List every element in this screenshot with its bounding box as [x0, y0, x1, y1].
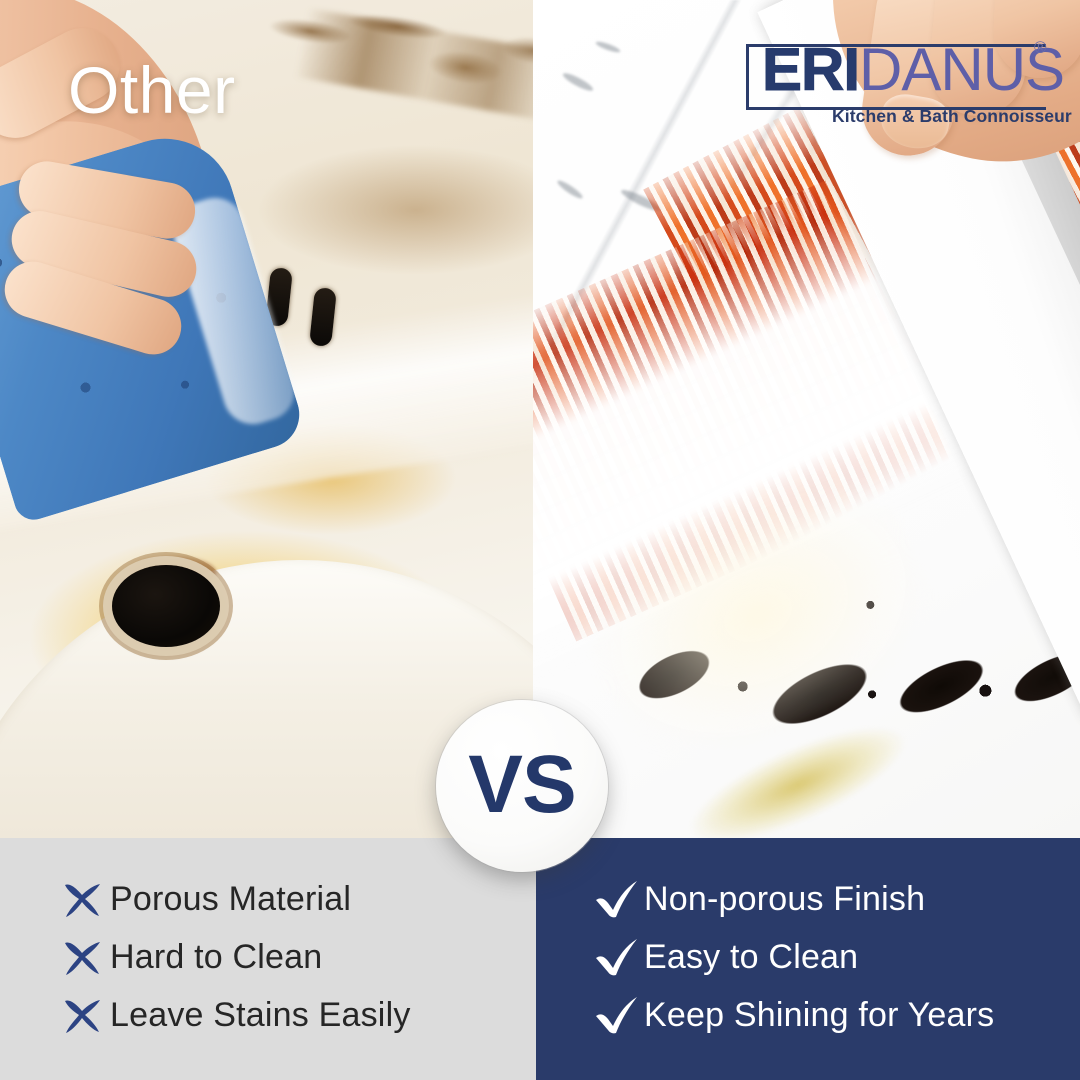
- list-item-label: Keep Shining for Years: [644, 996, 994, 1035]
- list-item: Keep Shining for Years: [536, 988, 1080, 1042]
- check-mark-icon: [594, 936, 644, 978]
- vs-label: VS: [468, 744, 575, 826]
- panel-other-cons: Porous Material Hard to Clean: [0, 838, 536, 1080]
- check-mark-icon: [594, 878, 644, 920]
- other-label: Other: [68, 52, 236, 128]
- list-item: Easy to Clean: [536, 930, 1080, 984]
- x-mark-icon: [60, 879, 110, 919]
- comparison-graphic: Other ERI: [0, 0, 1080, 1080]
- vs-badge: VS: [436, 700, 608, 872]
- x-mark-icon: [60, 995, 110, 1035]
- list-item: Hard to Clean: [0, 930, 536, 984]
- list-item-label: Non-porous Finish: [644, 880, 925, 919]
- logo-wordmark: ERI DANUS: [762, 40, 1064, 100]
- logo-eri-text: ERI: [762, 40, 859, 100]
- list-item-label: Leave Stains Easily: [110, 996, 411, 1035]
- panel-eridanus-pros: Non-porous Finish Easy to Clean: [536, 838, 1080, 1080]
- x-mark-icon: [60, 937, 110, 977]
- pros-list: Non-porous Finish Easy to Clean: [536, 838, 1080, 1046]
- eridanus-logo: ERI DANUS ® Kitchen & Bath Connoisseur: [746, 44, 1046, 110]
- feature-panels: Porous Material Hard to Clean: [0, 838, 1080, 1080]
- list-item-label: Hard to Clean: [110, 938, 322, 977]
- photo-other-stained-sink: Other: [0, 0, 533, 840]
- sink-drain: [112, 565, 220, 647]
- list-item: Non-porous Finish: [536, 872, 1080, 926]
- logo-tagline: Kitchen & Bath Connoisseur: [832, 106, 1072, 127]
- list-item-label: Easy to Clean: [644, 938, 858, 977]
- list-item: Porous Material: [0, 872, 536, 926]
- list-item-label: Porous Material: [110, 880, 351, 919]
- list-item: Leave Stains Easily: [0, 988, 536, 1042]
- check-mark-icon: [594, 994, 644, 1036]
- registered-trademark-icon: ®: [1034, 38, 1047, 58]
- cons-list: Porous Material Hard to Clean: [0, 838, 536, 1046]
